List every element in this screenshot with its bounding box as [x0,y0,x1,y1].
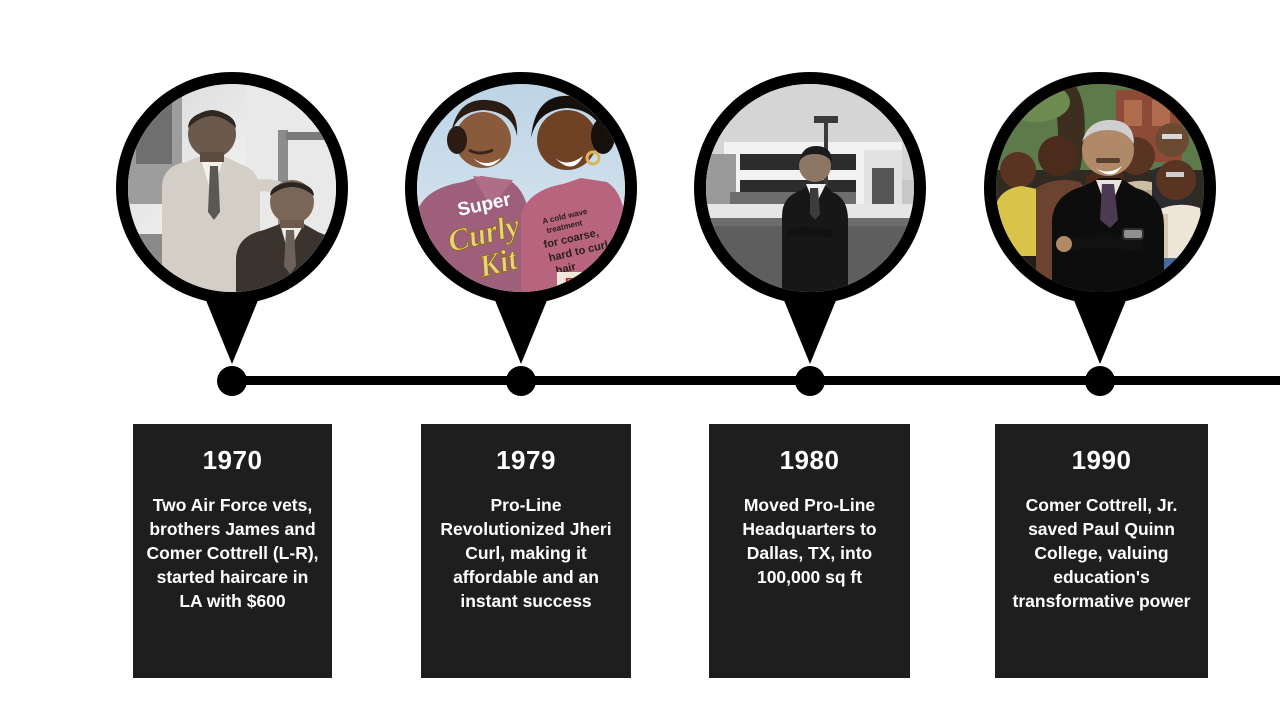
photo-super-curly-kit-package: Super Curly Kit A cold wave treatment fo… [417,84,625,292]
timeline-infographic: Super Curly Kit A cold wave treatment fo… [0,0,1280,720]
card-year: 1980 [719,446,900,475]
photo-headquarters-building [706,84,914,292]
card-description: Moved Pro-Line Headquarters to Dallas, T… [719,493,900,590]
pin-head [116,72,348,304]
timeline-card-1970[interactable]: 1970 Two Air Force vets, brothers James … [133,424,332,678]
timeline-pin-1980[interactable] [694,72,926,364]
timeline-dot-1990[interactable] [1085,366,1115,396]
timeline-pin-1990[interactable] [984,72,1216,364]
pin-head [694,72,926,304]
pin-head [984,72,1216,304]
card-description: Pro-Line Revolutionized Jheri Curl, maki… [431,493,621,614]
timeline-pin-1970[interactable] [116,72,348,364]
card-description: Two Air Force vets, brothers James and C… [143,493,322,614]
timeline-pin-1979[interactable]: Super Curly Kit A cold wave treatment fo… [405,72,637,364]
card-description: Comer Cottrell, Jr. saved Paul Quinn Col… [1005,493,1198,614]
photo-comer-with-students [996,84,1204,292]
pin-head: Super Curly Kit A cold wave treatment fo… [405,72,637,304]
photo-cottrell-brothers [128,84,336,292]
card-year: 1979 [431,446,621,475]
card-year: 1990 [1005,446,1198,475]
timeline-card-1979[interactable]: 1979 Pro-Line Revolutionized Jheri Curl,… [421,424,631,678]
timeline-card-1990[interactable]: 1990 Comer Cottrell, Jr. saved Paul Quin… [995,424,1208,678]
timeline-dot-1970[interactable] [217,366,247,396]
timeline-dot-1979[interactable] [506,366,536,396]
card-year: 1970 [143,446,322,475]
svg-text:FREE!: FREE! [565,275,604,290]
timeline-dot-1980[interactable] [795,366,825,396]
timeline-card-1980[interactable]: 1980 Moved Pro-Line Headquarters to Dall… [709,424,910,678]
timeline-axis-line [232,376,1280,385]
